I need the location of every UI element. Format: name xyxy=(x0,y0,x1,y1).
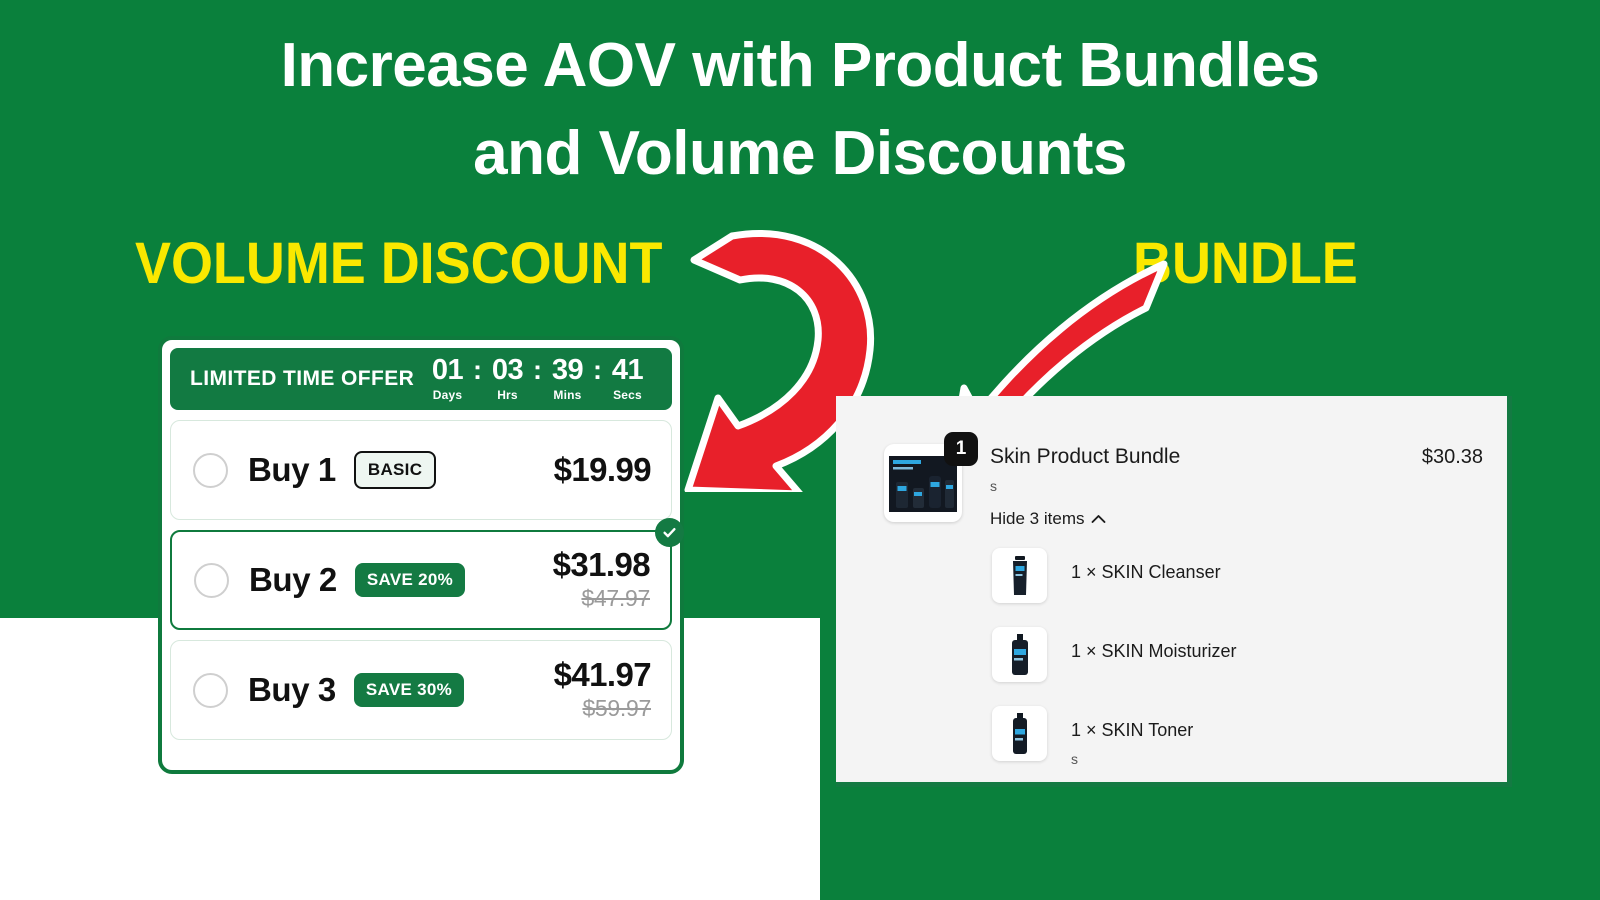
chevron-up-icon xyxy=(1091,514,1106,524)
page-title-line-2: and Volume Discounts xyxy=(0,110,1600,198)
countdown-hrs-value: 03 xyxy=(492,356,523,385)
bundle-item-moisturizer-text: 1 × SKIN Moisturizer xyxy=(1071,627,1237,662)
bundle-cart-panel: 1 Skin Product Bundle s Hide 3 items $30… xyxy=(836,396,1512,787)
bundle-item-toner-image xyxy=(992,706,1047,761)
bundle-title: Skin Product Bundle xyxy=(990,444,1406,469)
countdown-segment-days: 01 Days xyxy=(421,356,474,402)
slide-canvas: Increase AOV with Product Bundles and Vo… xyxy=(0,0,1600,900)
moisturizer-bottle-icon xyxy=(1006,634,1034,676)
offer-badge-buy-3: SAVE 30% xyxy=(354,673,464,707)
offer-price-buy-1: $19.99 xyxy=(554,453,651,488)
countdown-segment-secs: 41 Secs xyxy=(601,356,654,402)
bundle-parent-row: 1 Skin Product Bundle s Hide 3 items $30… xyxy=(884,444,1483,529)
bundle-price: $30.38 xyxy=(1422,444,1483,469)
volume-discount-widget: LIMITED TIME OFFER 01 Days : 03 Hrs : 39… xyxy=(158,336,684,774)
toner-bottle-icon xyxy=(1008,713,1032,755)
bundle-item-toner-text: 1 × SKIN Toner s xyxy=(1071,706,1193,767)
selected-check-icon xyxy=(655,518,684,547)
offer-radio-buy-1[interactable] xyxy=(193,453,228,488)
cleanser-tube-icon xyxy=(1007,555,1033,597)
annotation-bundle: BUNDLE xyxy=(1133,230,1358,297)
offer-pricing-buy-2: $31.98 $47.97 xyxy=(553,548,650,613)
offer-compare-price-buy-3: $59.97 xyxy=(554,695,651,722)
countdown-timer: 01 Days : 03 Hrs : 39 Mins : 41 Secs xyxy=(421,356,654,402)
bundle-item-moisturizer: 1 × SKIN Moisturizer xyxy=(992,627,1483,682)
countdown-days-label: Days xyxy=(433,388,463,402)
bundle-thumbnail-wrap: 1 xyxy=(884,444,962,522)
bundle-item-toner-name: 1 × SKIN Toner xyxy=(1071,720,1193,741)
countdown-mins-label: Mins xyxy=(553,388,581,402)
bundle-variant: s xyxy=(990,478,1406,494)
offer-price-buy-2: $31.98 xyxy=(553,548,650,583)
countdown-secs-value: 41 xyxy=(612,356,643,385)
bundle-quantity-badge: 1 xyxy=(944,432,978,466)
page-title-line-1: Increase AOV with Product Bundles xyxy=(0,22,1600,110)
bundle-item-cleanser-text: 1 × SKIN Cleanser xyxy=(1071,548,1221,583)
annotation-volume-discount: VOLUME DISCOUNT xyxy=(135,230,662,297)
offer-badge-buy-1: BASIC xyxy=(354,451,436,489)
bundle-items-toggle[interactable]: Hide 3 items xyxy=(990,509,1106,529)
bundle-item-toner: 1 × SKIN Toner s xyxy=(992,706,1483,767)
offer-option-buy-1[interactable]: Buy 1 BASIC $19.99 xyxy=(170,420,672,520)
offer-option-buy-2[interactable]: Buy 2 SAVE 20% $31.98 $47.97 xyxy=(170,530,672,630)
bundle-item-toner-variant: s xyxy=(1071,751,1193,767)
offer-pricing-buy-3: $41.97 $59.97 xyxy=(554,658,651,723)
offer-pricing-buy-1: $19.99 xyxy=(554,453,651,488)
bundle-item-moisturizer-name: 1 × SKIN Moisturizer xyxy=(1071,641,1237,662)
countdown-segment-mins: 39 Mins xyxy=(541,356,594,402)
offer-label-buy-2: Buy 2 xyxy=(249,561,337,599)
countdown-secs-label: Secs xyxy=(613,388,642,402)
bundle-items-toggle-label: Hide 3 items xyxy=(990,509,1084,529)
offer-label-buy-3: Buy 3 xyxy=(248,671,336,709)
bundle-item-moisturizer-image xyxy=(992,627,1047,682)
offer-badge-buy-2: SAVE 20% xyxy=(355,563,465,597)
offer-radio-buy-3[interactable] xyxy=(193,673,228,708)
countdown-segment-hrs: 03 Hrs xyxy=(481,356,534,402)
offer-compare-price-buy-2: $47.97 xyxy=(553,585,650,612)
offer-label-buy-1: Buy 1 xyxy=(248,451,336,489)
offer-price-buy-3: $41.97 xyxy=(554,658,651,693)
countdown-mins-value: 39 xyxy=(552,356,583,385)
offer-options-list: Buy 1 BASIC $19.99 Buy 2 SAVE 20% $31.98… xyxy=(170,420,672,740)
offer-option-buy-3[interactable]: Buy 3 SAVE 30% $41.97 $59.97 xyxy=(170,640,672,740)
countdown-days-value: 01 xyxy=(432,356,463,385)
bundle-item-cleanser-name: 1 × SKIN Cleanser xyxy=(1071,562,1221,583)
bundle-item-cleanser-image xyxy=(992,548,1047,603)
offer-radio-buy-2[interactable] xyxy=(194,563,229,598)
limited-time-offer-title: LIMITED TIME OFFER xyxy=(190,367,414,391)
bundle-item-cleanser: 1 × SKIN Cleanser xyxy=(992,548,1483,603)
limited-time-offer-header: LIMITED TIME OFFER 01 Days : 03 Hrs : 39… xyxy=(170,348,672,410)
page-title: Increase AOV with Product Bundles and Vo… xyxy=(0,22,1600,198)
countdown-hrs-label: Hrs xyxy=(497,388,518,402)
bundle-details: Skin Product Bundle s Hide 3 items xyxy=(990,444,1406,529)
bundle-items-list: 1 × SKIN Cleanser 1 × SKIN Moisturizer xyxy=(992,548,1483,791)
